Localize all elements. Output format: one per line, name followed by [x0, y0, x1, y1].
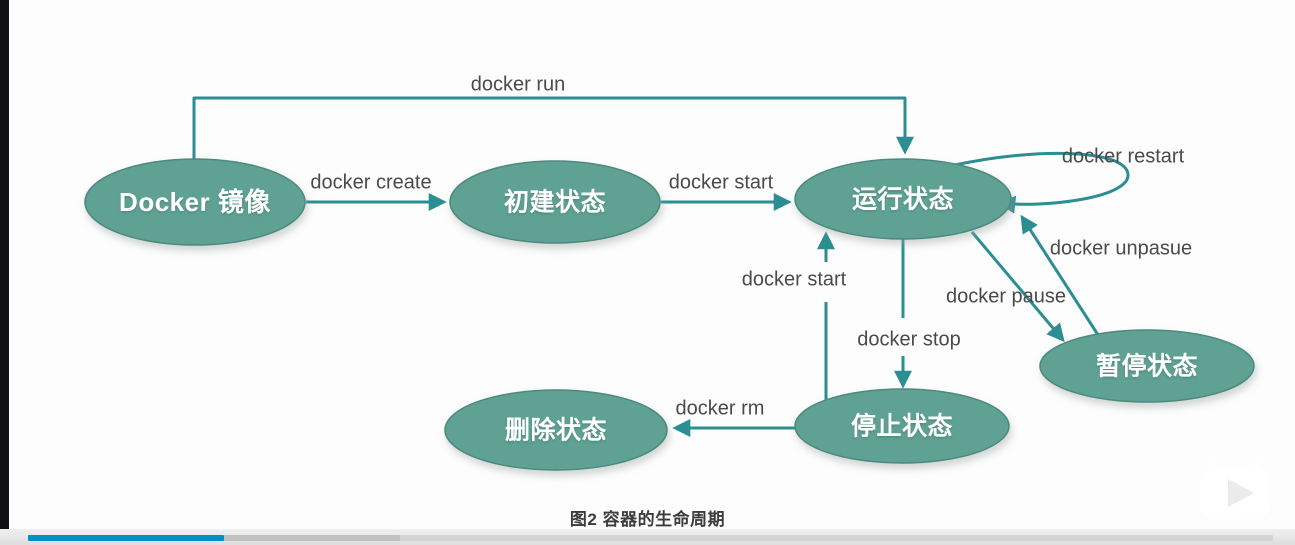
node-label-paused-state: 暂停状态 — [1096, 352, 1198, 381]
video-frame: Docker 镜像 初建状态 运行状态 暂停状态 停止状态 删除状态 — [0, 0, 1295, 545]
node-created-state[interactable]: 初建状态 — [450, 161, 660, 243]
video-player-bar[interactable] — [0, 529, 1295, 545]
progress-played — [28, 535, 224, 541]
edge-label-docker-create: docker create — [310, 171, 431, 193]
edge-label-docker-start-created: docker start — [669, 171, 774, 193]
node-stopped-state[interactable]: 停止状态 — [795, 389, 1009, 463]
container-lifecycle-diagram: Docker 镜像 初建状态 运行状态 暂停状态 停止状态 删除状态 — [0, 0, 1295, 545]
figure-caption: 图2 容器的生命周期 — [0, 505, 1295, 530]
edge-label-docker-run: docker run — [471, 73, 566, 95]
edge-label-docker-unpause: docker unpasue — [1050, 237, 1192, 259]
letterbox-left-bar — [0, 0, 9, 545]
bilibili-tv-logo-icon — [1192, 452, 1278, 524]
progress-track[interactable] — [28, 535, 1273, 541]
node-docker-image[interactable]: Docker 镜像 — [85, 159, 305, 245]
node-layer: Docker 镜像 初建状态 运行状态 暂停状态 停止状态 删除状态 — [85, 159, 1254, 470]
edge-layer — [194, 98, 1128, 428]
node-label-removed-state: 删除状态 — [505, 416, 607, 445]
edge-label-docker-pause: docker pause — [946, 285, 1066, 307]
node-removed-state[interactable]: 删除状态 — [445, 390, 667, 470]
node-running-state[interactable]: 运行状态 — [795, 159, 1011, 239]
edge-path-docker-run — [194, 98, 905, 160]
edge-path-docker-unpause — [1022, 217, 1100, 338]
edge-label-docker-stop: docker stop — [857, 328, 960, 350]
node-label-stopped-state: 停止状态 — [851, 412, 953, 441]
node-paused-state[interactable]: 暂停状态 — [1040, 330, 1254, 402]
edge-label-docker-rm: docker rm — [676, 397, 765, 419]
node-label-created-state: 初建状态 — [504, 189, 606, 217]
edge-label-docker-restart: docker restart — [1062, 145, 1185, 167]
node-label-running-state: 运行状态 — [852, 186, 954, 214]
node-label-docker-image: Docker 镜像 — [119, 187, 271, 217]
edge-label-docker-start-stopped: docker start — [742, 268, 847, 290]
